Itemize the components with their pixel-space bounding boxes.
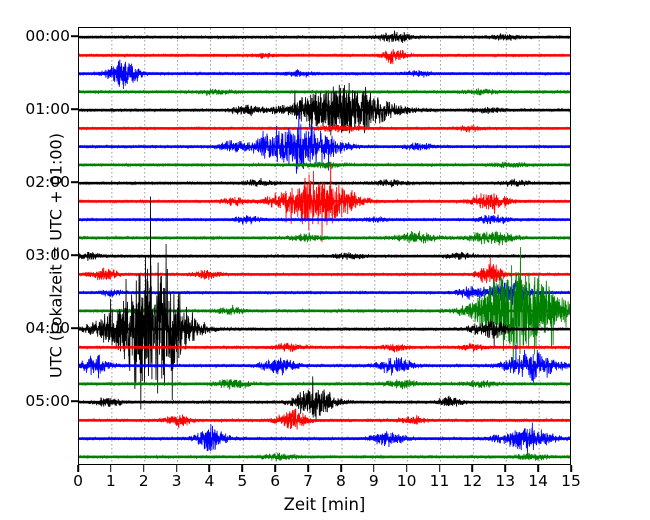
y-tick-mark — [71, 254, 78, 256]
x-tick-label: 7 — [303, 472, 313, 490]
x-tick-label: 6 — [270, 472, 280, 490]
x-tick-label: 10 — [397, 472, 417, 490]
x-tick-mark — [570, 465, 572, 472]
seismic-trace — [79, 163, 571, 242]
x-tick-mark — [274, 465, 276, 472]
y-tick-mark — [71, 181, 78, 183]
seismic-trace — [79, 345, 571, 383]
x-tick-label: 12 — [463, 472, 483, 490]
seismic-trace — [79, 258, 571, 284]
seismic-trace — [79, 379, 571, 389]
x-tick-mark — [504, 465, 506, 472]
x-tick-mark — [340, 465, 342, 472]
trace-line — [79, 345, 571, 383]
seismic-trace — [79, 409, 571, 430]
x-tick-label: 15 — [561, 472, 581, 490]
seismic-trace — [79, 31, 571, 43]
seismogram-traces — [79, 28, 571, 465]
x-tick-mark — [242, 465, 244, 472]
trace-line — [79, 247, 571, 370]
x-tick-mark — [406, 465, 408, 472]
seismic-trace — [79, 231, 571, 246]
y-tick-mark — [71, 400, 78, 402]
y-axis-title: UTC (Lokalzeit = UTC + 01:00) — [47, 96, 66, 416]
trace-line — [79, 163, 571, 242]
trace-line — [79, 258, 571, 284]
seismic-trace — [79, 422, 571, 457]
x-tick-mark — [472, 465, 474, 472]
seismic-trace — [79, 49, 571, 64]
x-tick-mark — [176, 465, 178, 472]
x-tick-label: 9 — [369, 472, 379, 490]
x-tick-label: 3 — [172, 472, 182, 490]
seismic-trace — [79, 252, 571, 261]
x-axis-title: Zeit [min] — [78, 495, 571, 514]
trace-line — [79, 49, 571, 64]
x-tick-label: 4 — [205, 472, 215, 490]
x-tick-mark — [439, 465, 441, 472]
x-tick-label: 5 — [237, 472, 247, 490]
seismic-trace — [79, 247, 571, 370]
x-tick-label: 2 — [139, 472, 149, 490]
x-tick-mark — [209, 465, 211, 472]
x-tick-label: 1 — [106, 472, 116, 490]
x-tick-mark — [110, 465, 112, 472]
trace-line — [79, 422, 571, 457]
x-tick-label: 0 — [73, 472, 83, 490]
y-tick-mark — [71, 35, 78, 37]
x-tick-label: 8 — [336, 472, 346, 490]
seismic-trace — [79, 162, 571, 170]
plot-area — [78, 27, 571, 465]
y-tick-mark — [71, 327, 78, 329]
y-tick-mark — [71, 108, 78, 110]
x-tick-label: 14 — [528, 472, 548, 490]
seismic-trace — [79, 60, 571, 89]
seismic-trace — [79, 452, 571, 461]
seismic-trace — [79, 125, 571, 133]
x-tick-mark — [373, 465, 375, 472]
seismic-trace — [79, 343, 571, 353]
x-tick-label: 11 — [430, 472, 450, 490]
seismogram-figure: 00:0001:0002:0003:0004:0005:00 UTC (Loka… — [0, 0, 650, 520]
x-tick-label: 13 — [495, 472, 515, 490]
x-tick-mark — [77, 465, 79, 472]
x-tick-mark — [143, 465, 145, 472]
y-axis-title-wrapper: UTC (Lokalzeit = UTC + 01:00) — [14, 0, 34, 520]
x-tick-mark — [537, 465, 539, 472]
x-tick-mark — [307, 465, 309, 472]
